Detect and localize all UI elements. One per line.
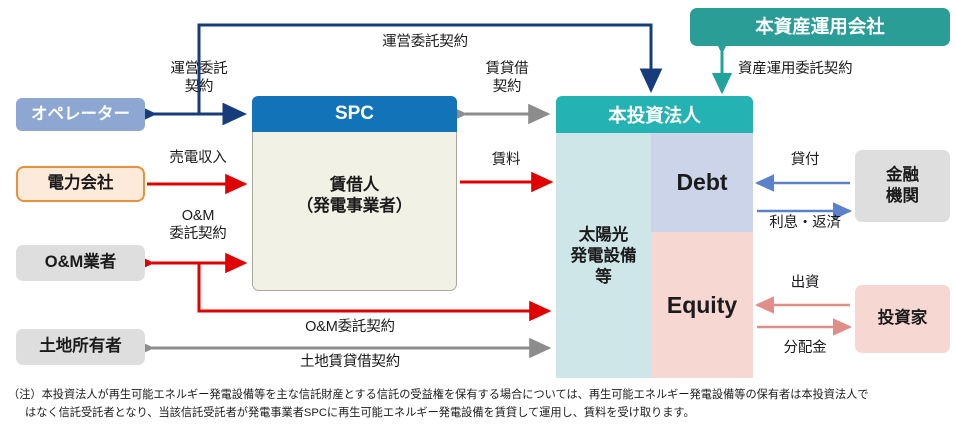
node-power-company[interactable]: 電力会社	[16, 166, 145, 202]
footnote-line-1: （注）本投資法人が再生可能エネルギー発電設備等を主な信託財産とする信託の受益権を…	[8, 386, 952, 404]
edge-label-operator-reit: 運営委託契約	[330, 34, 520, 52]
node-investor-label: 投資家	[878, 309, 928, 328]
node-reit-header: 本投資法人	[556, 96, 753, 133]
node-spc-header-label: SPC	[335, 103, 374, 125]
edge-label-om-contract: O&M 委託契約	[152, 208, 244, 243]
edge-label-interest-repay: 利息・返済	[754, 215, 856, 233]
node-operator-label: オペレーター	[31, 105, 130, 124]
edge-label-om-contract-bottom: O&M委託契約	[250, 319, 450, 337]
edge-label-spc-reit-lease: 賃貸借 契約	[462, 61, 552, 96]
node-om-vendor-label: O&M業者	[45, 253, 117, 272]
node-power-company-label: 電力会社	[48, 174, 114, 193]
edge-label-rent: 賃料	[462, 152, 550, 170]
edge-label-loan: 貸付	[762, 152, 848, 170]
node-spc-body-label: 賃借人 （発電事業者）	[252, 175, 457, 218]
footnote-line-2: はなく信託受託者となり、当該信託受託者が発電事業者SPCに再生可能エネルギー発電…	[8, 404, 952, 422]
node-operator[interactable]: オペレーター	[16, 98, 145, 131]
node-bank-label: 金融 機関	[886, 165, 919, 206]
node-landowner[interactable]: 土地所有者	[16, 329, 145, 365]
footnote: （注）本投資法人が再生可能エネルギー発電設備等を主な信託財産とする信託の受益権を…	[8, 386, 952, 422]
node-equity: Equity	[651, 232, 753, 378]
edge-label-distribution: 分配金	[758, 340, 852, 358]
node-debt: Debt	[651, 133, 753, 232]
node-om-vendor[interactable]: O&M業者	[16, 245, 145, 281]
node-asset-manager-label: 本資産運用会社	[755, 16, 885, 38]
edge-label-investment: 出資	[762, 275, 848, 293]
node-debt-label: Debt	[676, 169, 727, 196]
node-bank[interactable]: 金融 機関	[855, 150, 950, 222]
edge-label-am-contract: 資産運用委託契約	[738, 61, 928, 79]
node-equity-label: Equity	[667, 292, 737, 319]
node-investor[interactable]: 投資家	[855, 285, 950, 353]
node-reit-header-label: 本投資法人	[608, 102, 701, 128]
node-landowner-label: 土地所有者	[39, 337, 122, 356]
diagram-canvas: オペレーター 電力会社 O&M業者 土地所有者 SPC 賃借人 （発電事業者） …	[0, 0, 956, 436]
node-solar-asset-label: 太陽光 発電設備 等	[556, 225, 651, 288]
node-spc-header: SPC	[252, 96, 457, 132]
edge-label-power-sales: 売電収入	[152, 150, 244, 168]
node-asset-manager[interactable]: 本資産運用会社	[690, 8, 950, 46]
edge-label-land-lease: 土地賃貸借契約	[250, 354, 450, 372]
edge-label-operator-spc: 運営委託 契約	[153, 61, 245, 96]
